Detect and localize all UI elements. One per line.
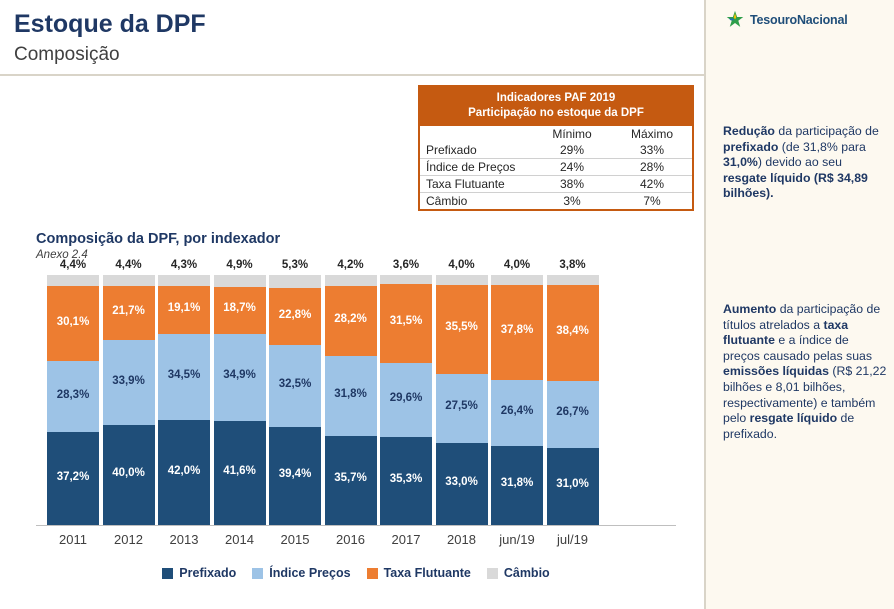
bar-segment-índice-preços: 32,5% bbox=[269, 345, 321, 426]
chart-x-axis bbox=[36, 525, 676, 526]
bar-value-label: 38,4% bbox=[547, 325, 599, 337]
bar-segment-câmbio bbox=[380, 275, 432, 284]
bar-column: 39,4%32,5%22,8% bbox=[269, 275, 321, 525]
bar-segment-índice-preços: 33,9% bbox=[103, 340, 155, 425]
table-row: Taxa Flutuante 38% 42% bbox=[420, 176, 692, 193]
bar-segment-câmbio bbox=[269, 275, 321, 288]
paf-table-title-line2: Participação no estoque da DPF bbox=[420, 106, 692, 121]
table-row: Prefixado 29% 33% bbox=[420, 142, 692, 159]
legend-item-taxa-flutuante: Taxa Flutuante bbox=[367, 566, 471, 580]
bar-segment-prefixado: 31,0% bbox=[547, 448, 599, 526]
page-subtitle: Composição bbox=[14, 44, 120, 66]
bar-segment-prefixado: 33,0% bbox=[436, 443, 488, 526]
header-divider bbox=[0, 74, 704, 76]
bar-value-label: 39,4% bbox=[269, 468, 321, 480]
bar-segment-prefixado: 40,0% bbox=[103, 425, 155, 525]
bar-value-label: 29,6% bbox=[380, 392, 432, 404]
bar-column: 41,6%34,9%18,7% bbox=[214, 275, 266, 525]
table-header-row: Mínimo Máximo bbox=[420, 126, 692, 142]
bar-value-label: 33,0% bbox=[436, 476, 488, 488]
bar-segment-índice-preços: 27,5% bbox=[436, 374, 488, 443]
bar-value-label: 22,8% bbox=[269, 309, 321, 321]
legend-swatch bbox=[367, 568, 378, 579]
paf-row-max: 42% bbox=[612, 176, 692, 193]
paf-row-max: 28% bbox=[612, 159, 692, 176]
note1-text-1: da participação de bbox=[775, 124, 879, 138]
bar-segment-taxa-flutuante: 19,1% bbox=[158, 286, 210, 334]
paf-table-header: Indicadores PAF 2019 Participação no est… bbox=[420, 87, 692, 126]
bar-segment-taxa-flutuante: 30,1% bbox=[47, 286, 99, 361]
slide-left-pane: Estoque da DPF Composição Indicadores PA… bbox=[0, 0, 704, 609]
table-row: Câmbio 3% 7% bbox=[420, 193, 692, 210]
bar-value-label: 28,2% bbox=[325, 313, 377, 325]
chart-title: Composição da DPF, por indexador bbox=[36, 231, 280, 247]
paf-col-blank bbox=[420, 126, 532, 142]
bar-value-label-cambio: 4,0% bbox=[491, 259, 543, 271]
bar-value-label-cambio: 4,4% bbox=[103, 259, 155, 271]
paf-table-body: Mínimo Máximo Prefixado 29% 33% Índice d… bbox=[420, 126, 692, 209]
paf-row-min: 24% bbox=[532, 159, 612, 176]
legend-label: Índice Preços bbox=[269, 566, 350, 580]
logo-text: TesouroNacional bbox=[750, 13, 847, 27]
paf-row-label: Taxa Flutuante bbox=[420, 176, 532, 193]
bar-segment-prefixado: 37,2% bbox=[47, 432, 99, 525]
legend-item-câmbio: Câmbio bbox=[487, 566, 550, 580]
bar-value-label: 41,6% bbox=[214, 465, 266, 477]
bar-segment-prefixado: 35,7% bbox=[325, 436, 377, 525]
paf-row-max: 7% bbox=[612, 193, 692, 210]
bar-column: 33,0%27,5%35,5% bbox=[436, 275, 488, 525]
paf-col-max: Máximo bbox=[612, 126, 692, 142]
bar-value-label: 37,8% bbox=[491, 324, 543, 336]
bar-segment-taxa-flutuante: 21,7% bbox=[103, 286, 155, 340]
bar-value-label-cambio: 4,3% bbox=[158, 259, 210, 271]
bar-segment-câmbio bbox=[436, 275, 488, 285]
bar-value-label: 34,5% bbox=[158, 369, 210, 381]
bar-column: 31,0%26,7%38,4% bbox=[547, 275, 599, 525]
bar-segment-taxa-flutuante: 35,5% bbox=[436, 285, 488, 374]
bar-segment-prefixado: 31,8% bbox=[491, 446, 543, 526]
paf-row-max: 33% bbox=[612, 142, 692, 159]
bar-segment-índice-preços: 26,4% bbox=[491, 380, 543, 446]
bar-segment-índice-preços: 26,7% bbox=[547, 381, 599, 448]
bar-segment-câmbio bbox=[547, 275, 599, 285]
bar-column: 42,0%34,5%19,1% bbox=[158, 275, 210, 525]
note1-bold-4: resgate líquido (R$ 34,89 bilhões). bbox=[723, 171, 868, 201]
paf-row-min: 38% bbox=[532, 176, 612, 193]
bar-value-label: 40,0% bbox=[103, 467, 155, 479]
bar-value-label: 28,3% bbox=[47, 389, 99, 401]
bar-segment-taxa-flutuante: 28,2% bbox=[325, 286, 377, 357]
note2-bold-3: emissões líquidas bbox=[723, 364, 829, 378]
bar-segment-índice-preços: 31,8% bbox=[325, 356, 377, 436]
tesouro-nacional-logo: TesouroNacional bbox=[724, 8, 884, 36]
bar-segment-taxa-flutuante: 38,4% bbox=[547, 285, 599, 381]
bar-segment-taxa-flutuante: 22,8% bbox=[269, 288, 321, 345]
chart-legend: PrefixadoÍndice PreçosTaxa FlutuanteCâmb… bbox=[36, 563, 676, 583]
bar-value-label: 31,0% bbox=[547, 478, 599, 490]
bar-value-label: 21,7% bbox=[103, 305, 155, 317]
treasury-star-icon bbox=[724, 10, 746, 32]
bar-value-label: 31,5% bbox=[380, 315, 432, 327]
bar-segment-câmbio bbox=[158, 275, 210, 286]
bar-value-label-cambio: 5,3% bbox=[269, 259, 321, 271]
bar-segment-índice-preços: 34,5% bbox=[158, 334, 210, 420]
note2-bold-4: resgate líquido bbox=[750, 411, 837, 425]
bar-value-label: 19,1% bbox=[158, 302, 210, 314]
bar-segment-prefixado: 42,0% bbox=[158, 420, 210, 525]
legend-item-índice-preços: Índice Preços bbox=[252, 566, 350, 580]
bar-column: 31,8%26,4%37,8% bbox=[491, 275, 543, 525]
bar-value-label: 26,7% bbox=[547, 406, 599, 418]
bar-segment-taxa-flutuante: 18,7% bbox=[214, 287, 266, 334]
legend-label: Câmbio bbox=[504, 566, 550, 580]
bar-value-label: 37,2% bbox=[47, 471, 99, 483]
bar-segment-prefixado: 39,4% bbox=[269, 427, 321, 526]
bar-value-label: 35,3% bbox=[380, 473, 432, 485]
bar-value-label: 34,9% bbox=[214, 369, 266, 381]
note1-bold-1: Redução bbox=[723, 124, 775, 138]
slide-header: Estoque da DPF Composição bbox=[0, 0, 704, 74]
note1-bold-3: 31,0% bbox=[723, 155, 758, 169]
bar-value-label-cambio: 4,9% bbox=[214, 259, 266, 271]
x-axis-tick: jul/19 bbox=[538, 532, 608, 547]
bar-segment-câmbio bbox=[103, 275, 155, 286]
legend-swatch bbox=[487, 568, 498, 579]
bar-value-label: 26,4% bbox=[491, 405, 543, 417]
bar-segment-câmbio bbox=[325, 275, 377, 286]
bar-value-label-cambio: 3,8% bbox=[547, 259, 599, 271]
slide-right-pane: TesouroNacional Redução da participação … bbox=[704, 0, 894, 609]
bar-column: 35,7%31,8%28,2% bbox=[325, 275, 377, 525]
paf-col-min: Mínimo bbox=[532, 126, 612, 142]
paf-row-min: 29% bbox=[532, 142, 612, 159]
bar-segment-taxa-flutuante: 31,5% bbox=[380, 284, 432, 363]
legend-swatch bbox=[252, 568, 263, 579]
bar-column: 37,2%28,3%30,1% bbox=[47, 275, 99, 525]
bar-segment-índice-preços: 34,9% bbox=[214, 334, 266, 421]
bar-value-label-cambio: 4,2% bbox=[325, 259, 377, 271]
stacked-bar-chart: 37,2%28,3%30,1%4,4%40,0%33,9%21,7%4,4%42… bbox=[36, 275, 676, 525]
legend-item-prefixado: Prefixado bbox=[162, 566, 236, 580]
bar-value-label: 27,5% bbox=[436, 400, 488, 412]
bar-segment-prefixado: 35,3% bbox=[380, 437, 432, 525]
bar-segment-índice-preços: 28,3% bbox=[47, 361, 99, 432]
note1-bold-2: prefixado bbox=[723, 140, 778, 154]
paf-row-label: Índice de Preços bbox=[420, 159, 532, 176]
bar-value-label-cambio: 3,6% bbox=[380, 259, 432, 271]
bar-value-label: 35,5% bbox=[436, 321, 488, 333]
bar-value-label: 31,8% bbox=[325, 388, 377, 400]
bar-value-label: 33,9% bbox=[103, 375, 155, 387]
bar-value-label-cambio: 4,0% bbox=[436, 259, 488, 271]
bar-value-label: 18,7% bbox=[214, 302, 266, 314]
bar-value-label: 35,7% bbox=[325, 472, 377, 484]
bar-segment-câmbio bbox=[47, 275, 99, 286]
bar-segment-câmbio bbox=[214, 275, 266, 287]
bar-segment-prefixado: 41,6% bbox=[214, 421, 266, 525]
paf-table-title-line1: Indicadores PAF 2019 bbox=[420, 91, 692, 106]
bar-value-label: 32,5% bbox=[269, 378, 321, 390]
note-aumento: Aumento da participação de títulos atrel… bbox=[723, 302, 888, 442]
table-row: Índice de Preços 24% 28% bbox=[420, 159, 692, 176]
note-reducao: Redução da participação de prefixado (de… bbox=[723, 124, 888, 202]
legend-label: Taxa Flutuante bbox=[384, 566, 471, 580]
note1-text-3: ) devido ao seu bbox=[758, 155, 842, 169]
bar-segment-índice-preços: 29,6% bbox=[380, 363, 432, 437]
legend-label: Prefixado bbox=[179, 566, 236, 580]
bar-value-label: 42,0% bbox=[158, 465, 210, 477]
bar-column: 35,3%29,6%31,5% bbox=[380, 275, 432, 525]
paf-row-min: 3% bbox=[532, 193, 612, 210]
bar-column: 40,0%33,9%21,7% bbox=[103, 275, 155, 525]
bar-value-label: 30,1% bbox=[47, 316, 99, 328]
page-title: Estoque da DPF bbox=[14, 10, 206, 39]
bar-segment-câmbio bbox=[491, 275, 543, 285]
paf-row-label: Câmbio bbox=[420, 193, 532, 210]
bar-value-label: 31,8% bbox=[491, 477, 543, 489]
paf-indicators-table: Indicadores PAF 2019 Participação no est… bbox=[418, 85, 694, 211]
bar-value-label-cambio: 4,4% bbox=[47, 259, 99, 271]
legend-swatch bbox=[162, 568, 173, 579]
note2-bold-1: Aumento bbox=[723, 302, 776, 316]
note1-text-2: (de 31,8% para bbox=[778, 140, 866, 154]
bar-segment-taxa-flutuante: 37,8% bbox=[491, 285, 543, 380]
paf-row-label: Prefixado bbox=[420, 142, 532, 159]
